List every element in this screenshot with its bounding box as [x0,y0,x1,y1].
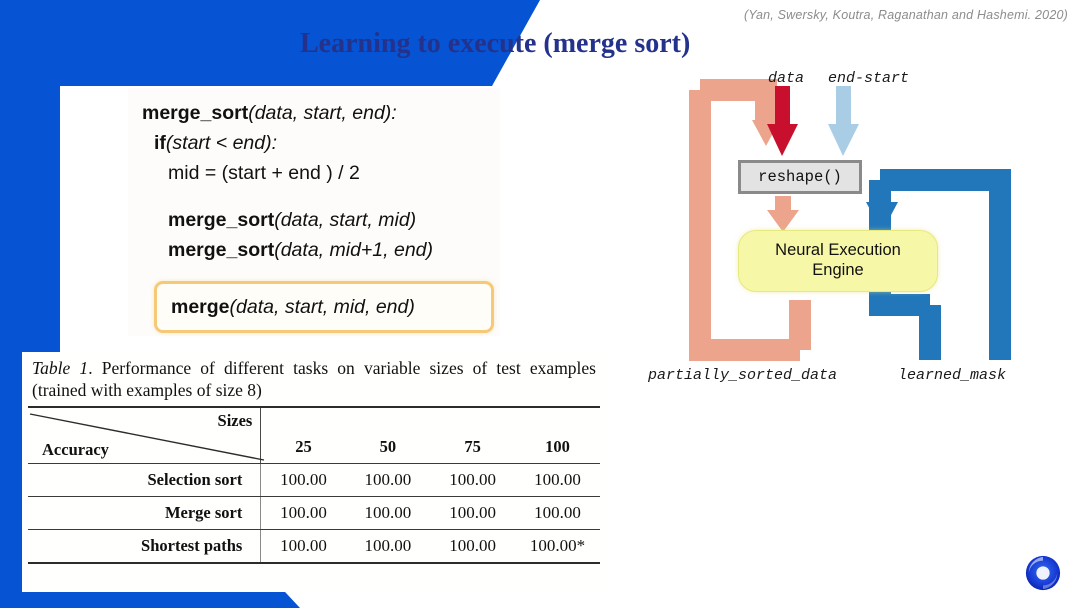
code-line-recurse-right: merge_sort(data, mid+1, end) [142,235,486,265]
code-keyword-merge-sort: merge_sort [142,102,248,124]
table-caption-label: Table 1 [32,358,88,378]
neural-execution-engine-box: Neural Execution Engine [738,230,938,292]
table-col-header-75: 75 [430,408,515,464]
table-row: Selection sort 100.00 100.00 100.00 100.… [28,464,600,497]
code-if-condition: (start < end): [166,132,277,154]
cell-selection-75: 100.00 [430,464,515,497]
cell-shortest-25: 100.00 [261,530,346,564]
cell-merge-25: 100.00 [261,497,346,530]
cell-shortest-100: 100.00* [515,530,600,564]
cell-shortest-75: 100.00 [430,530,515,564]
table-caption: Table 1. Performance of different tasks … [28,356,600,406]
code-line-mid: mid = (start + end ) / 2 [142,158,486,188]
code-args-left: (data, start, mid) [274,209,416,231]
engine-box-text: Neural Execution Engine [775,241,901,281]
diagram-label-data: data [768,70,804,87]
code-keyword-merge: merge [171,296,230,318]
cell-selection-100: 100.00 [515,464,600,497]
code-keyword-if: if [154,132,166,154]
results-table-card: Table 1. Performance of different tasks … [22,352,606,592]
row-label-selection-sort: Selection sort [28,464,261,497]
merge-call-highlight-box: merge(data, start, mid, end) [154,281,494,333]
reshape-function-box: reshape() [738,160,862,194]
code-line-signature: merge_sort(data, start, end): [142,98,486,128]
pseudocode-card: merge_sort(data, start, end): if(start <… [128,88,500,336]
cell-shortest-50: 100.00 [346,530,431,564]
code-line-merge: merge(data, start, mid, end) [171,292,477,322]
table-header-row: Sizes Accuracy 25 50 75 100 [28,408,600,464]
code-blank-line [142,189,486,205]
code-args-right: (data, mid+1, end) [274,239,433,261]
table-corner-split-cell: Sizes Accuracy [28,408,261,464]
diagram-label-end-start: end-start [828,70,909,87]
row-label-shortest-paths: Shortest paths [28,530,261,564]
light-blue-end-start-arrow [828,86,859,156]
cell-merge-50: 100.00 [346,497,431,530]
code-args-merge: (data, start, mid, end) [230,296,415,318]
table-row: Merge sort 100.00 100.00 100.00 100.00 [28,497,600,530]
cell-selection-25: 100.00 [261,464,346,497]
row-label-merge-sort: Merge sort [28,497,261,530]
table-col-header-100: 100 [515,408,600,464]
table-header-accuracy-label: Accuracy [42,440,109,460]
diagram-label-learned-mask: learned_mask [898,367,1006,384]
architecture-diagram: reshape() Neural Execution Engine data e… [640,60,1060,410]
performance-table: Sizes Accuracy 25 50 75 100 Selection so… [28,406,600,565]
citation-text: (Yan, Swersky, Koutra, Raganathan and Ha… [744,8,1068,22]
table-header-sizes-label: Sizes [218,411,253,431]
table-col-header-50: 50 [346,408,431,464]
cell-merge-100: 100.00 [515,497,600,530]
salmon-reshape-to-engine-arrow [767,196,799,232]
cell-merge-75: 100.00 [430,497,515,530]
engine-line-2: Engine [812,261,863,279]
company-swirl-logo [1024,554,1062,592]
table-caption-body: . Performance of different tasks on vari… [32,358,596,400]
engine-line-1: Neural Execution [775,241,901,259]
code-keyword-merge-sort-left: merge_sort [168,209,274,231]
code-line-if: if(start < end): [142,128,486,158]
page-title: Learning to execute (merge sort) [300,28,690,60]
code-args: (data, start, end): [248,102,397,124]
table-row: Shortest paths 100.00 100.00 100.00 100.… [28,530,600,564]
cell-selection-50: 100.00 [346,464,431,497]
code-line-recurse-left: merge_sort(data, start, mid) [142,205,486,235]
code-keyword-merge-sort-right: merge_sort [168,239,274,261]
diagram-label-partially-sorted-data: partially_sorted_data [648,367,837,384]
table-col-header-25: 25 [261,408,346,464]
